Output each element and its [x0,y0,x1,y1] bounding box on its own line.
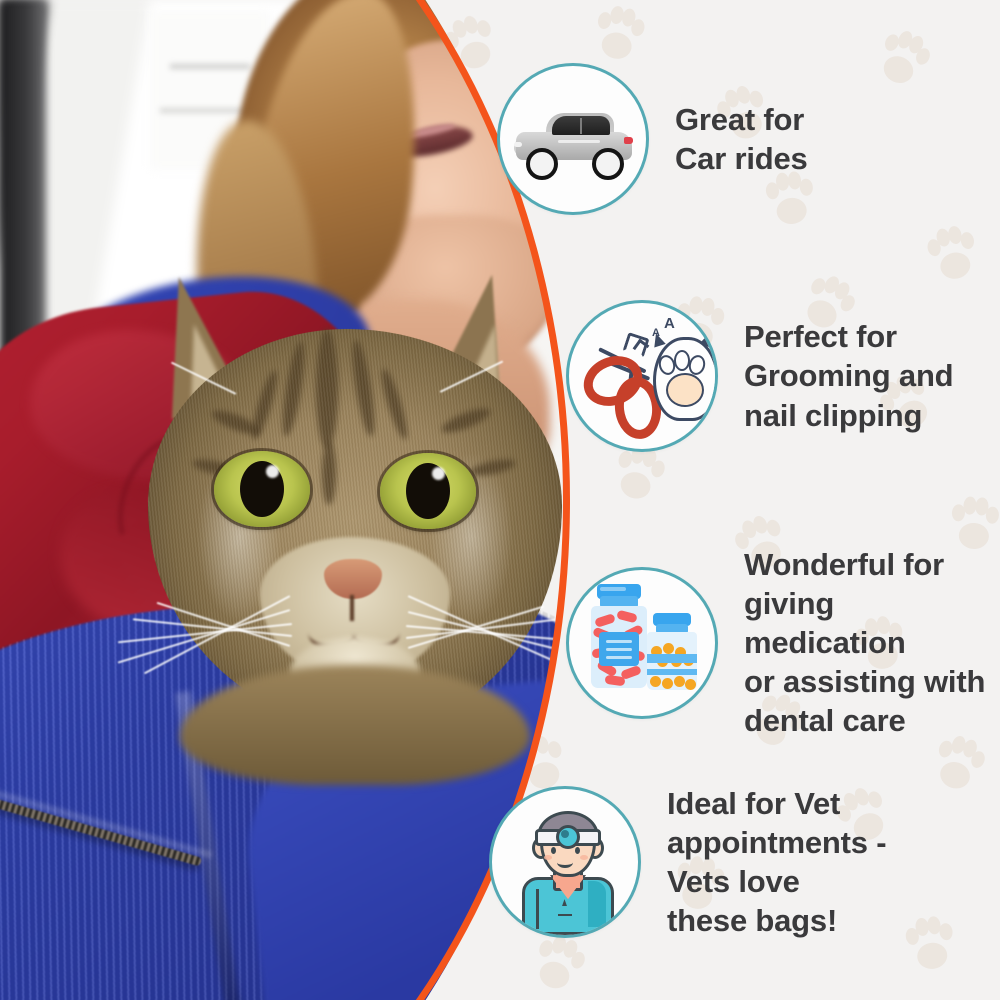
car-icon [497,63,649,215]
feature-label-vet: Ideal for Vet appointments - Vets love t… [667,784,886,940]
tabby-cat [140,265,570,735]
infographic-canvas: Great for Car rides A A [0,0,1000,1000]
feature-car-rides: Great for Car rides [497,63,808,215]
veterinarian-icon [489,786,641,938]
feature-label-medication: Wonderful for giving medication or assis… [744,545,1000,740]
nail-clippers-paw-icon: A A [566,300,718,452]
feature-label-grooming: Perfect for Grooming and nail clipping [744,317,953,434]
feature-vet: Ideal for Vet appointments - Vets love t… [489,784,886,940]
feature-medication: Wonderful for giving medication or assis… [566,545,1000,740]
pill-bottles-icon [566,567,718,719]
feature-grooming: A A Perfect for Grooming and nail clippi… [566,300,953,452]
feature-label-car-rides: Great for Car rides [675,100,808,178]
